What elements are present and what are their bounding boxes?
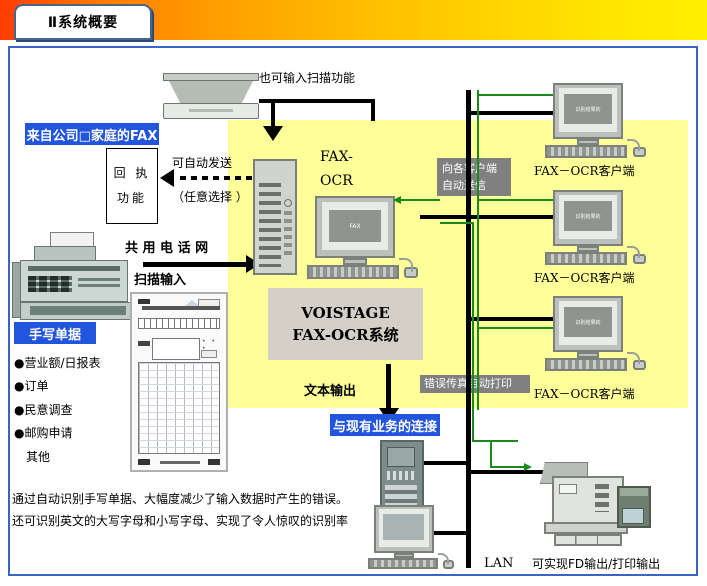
fax-ocr-server-pc-icon: FAX: [305, 196, 420, 281]
text-output-label: 文本输出: [304, 383, 356, 401]
bottom-description-line-2: 还可识别英文的大写字母和小写字母、实现了令人惊叹的识别率: [12, 510, 412, 532]
client-pc-3-label: FAX－OCR客户端: [534, 386, 635, 402]
existing-business-banner-label: 与现有业务的连接: [333, 416, 437, 435]
lan-label: LAN: [484, 555, 513, 573]
list-item: ●邮购申请: [14, 422, 134, 445]
error-fax-print-callout: 错误传真自动打印: [420, 375, 530, 393]
green-to-copier-final: [490, 466, 526, 468]
fd-print-output-label: 可实现FD输出/打印输出: [532, 556, 660, 572]
existing-business-banner: 与现有业务的连接: [330, 414, 440, 436]
client-pc-2-screen-text: 识别结果的: [564, 201, 612, 231]
client-pc-1-icon: 识别结果的: [545, 83, 650, 161]
lan-branch-client-2: [420, 215, 558, 219]
fax-source-banner-label: 来自公司□家庭的FAX: [27, 125, 158, 144]
optional-label: （任意选择 ）: [172, 189, 248, 205]
phone-network-label: 共 用 电 话 网: [125, 240, 208, 258]
page-title-tab: Ⅱ系统概要: [14, 4, 152, 40]
flatbed-scanner-icon: [163, 73, 259, 121]
scanner-connector-drop-right: [371, 99, 375, 121]
green-feedback-into-pc: [400, 199, 440, 201]
bottom-description: 通过自动识别手写单据、大幅度减少了输入数据时产生的错误。 还可识别英文的大写字母…: [12, 488, 412, 532]
scanner-to-server-arrow: [263, 126, 283, 141]
green-pc-out-vertical: [472, 222, 474, 442]
handwritten-form-image: • • •: [130, 292, 228, 472]
list-item: ●民意调查: [14, 399, 134, 422]
client-pc-2-label: FAX－OCR客户端: [534, 270, 635, 286]
to-clients-line-1: 向各客户端: [442, 161, 506, 178]
scan-input-label: 扫描输入: [134, 272, 186, 290]
text-output-line: [386, 364, 391, 412]
to-clients-line-2: 自动送信: [442, 178, 506, 195]
client-pc-2-icon: 识别结果的: [545, 190, 650, 268]
fax-server-tower-icon: [253, 159, 297, 275]
error-fax-print-label: 错误传真自动打印: [424, 376, 526, 393]
auto-send-label: 可自动发送: [172, 155, 232, 171]
green-return-trunk: [477, 90, 479, 410]
client-pc-1-screen-text: 识别结果的: [564, 94, 612, 124]
fax-ocr-label-line1: FAX-: [320, 148, 353, 167]
floppy-disk-icon: [617, 486, 651, 528]
phone-network-line: [143, 262, 253, 267]
receipt-line-2: 功能: [117, 186, 147, 211]
client-pc-3-screen-text: 识别结果的: [564, 307, 612, 337]
to-clients-callout: 向各客户端 自动送信: [437, 158, 511, 196]
receipt-function-box: 回 执 功能: [106, 148, 158, 224]
handwritten-doc-banner-label: 手写单据: [29, 324, 81, 343]
system-name: VOISTAGE: [301, 302, 390, 325]
client-pc-1-label: FAX－OCR客户端: [534, 163, 635, 179]
list-item: ●营业额/日报表: [14, 352, 134, 375]
green-feedback-arrowhead: [393, 196, 401, 204]
system-subname: FAX-OCR系统: [292, 324, 398, 347]
green-arrow-copier: [524, 463, 532, 471]
lan-backbone-vertical: [466, 90, 471, 568]
scanner-connector-horizontal: [259, 99, 375, 103]
fax-ocr-label-line2: OCR: [320, 172, 353, 191]
fax-machine-icon: [12, 232, 140, 322]
list-item: 其他: [14, 446, 134, 469]
bottom-description-line-1: 通过自动识别手写单据、大幅度减少了输入数据时产生的错误。: [12, 488, 412, 510]
scan-input-note-label: 也可输入扫描功能: [259, 70, 355, 86]
auto-send-arrowhead: [160, 169, 174, 187]
fax-source-banner: 来自公司□家庭的FAX: [25, 123, 159, 145]
scanner-connector-drop-left: [271, 99, 275, 129]
page-title: Ⅱ系统概要: [48, 12, 118, 32]
fax-ocr-pc-screen-text: FAX: [329, 210, 381, 242]
green-to-copier-drop: [490, 440, 492, 468]
client-pc-3-icon: 识别结果的: [545, 296, 650, 374]
document-type-list: ●营业额/日报表 ●订单 ●民意调查 ●邮购申请 其他: [14, 352, 134, 469]
list-item: ●订单: [14, 375, 134, 398]
green-pc-out-horizontal: [440, 222, 474, 224]
handwritten-doc-banner: 手写单据: [14, 322, 96, 344]
receipt-line-1: 回 执: [114, 161, 151, 186]
system-name-box: VOISTAGE FAX-OCR系统: [268, 288, 423, 360]
green-to-copier-horizontal: [472, 440, 518, 442]
